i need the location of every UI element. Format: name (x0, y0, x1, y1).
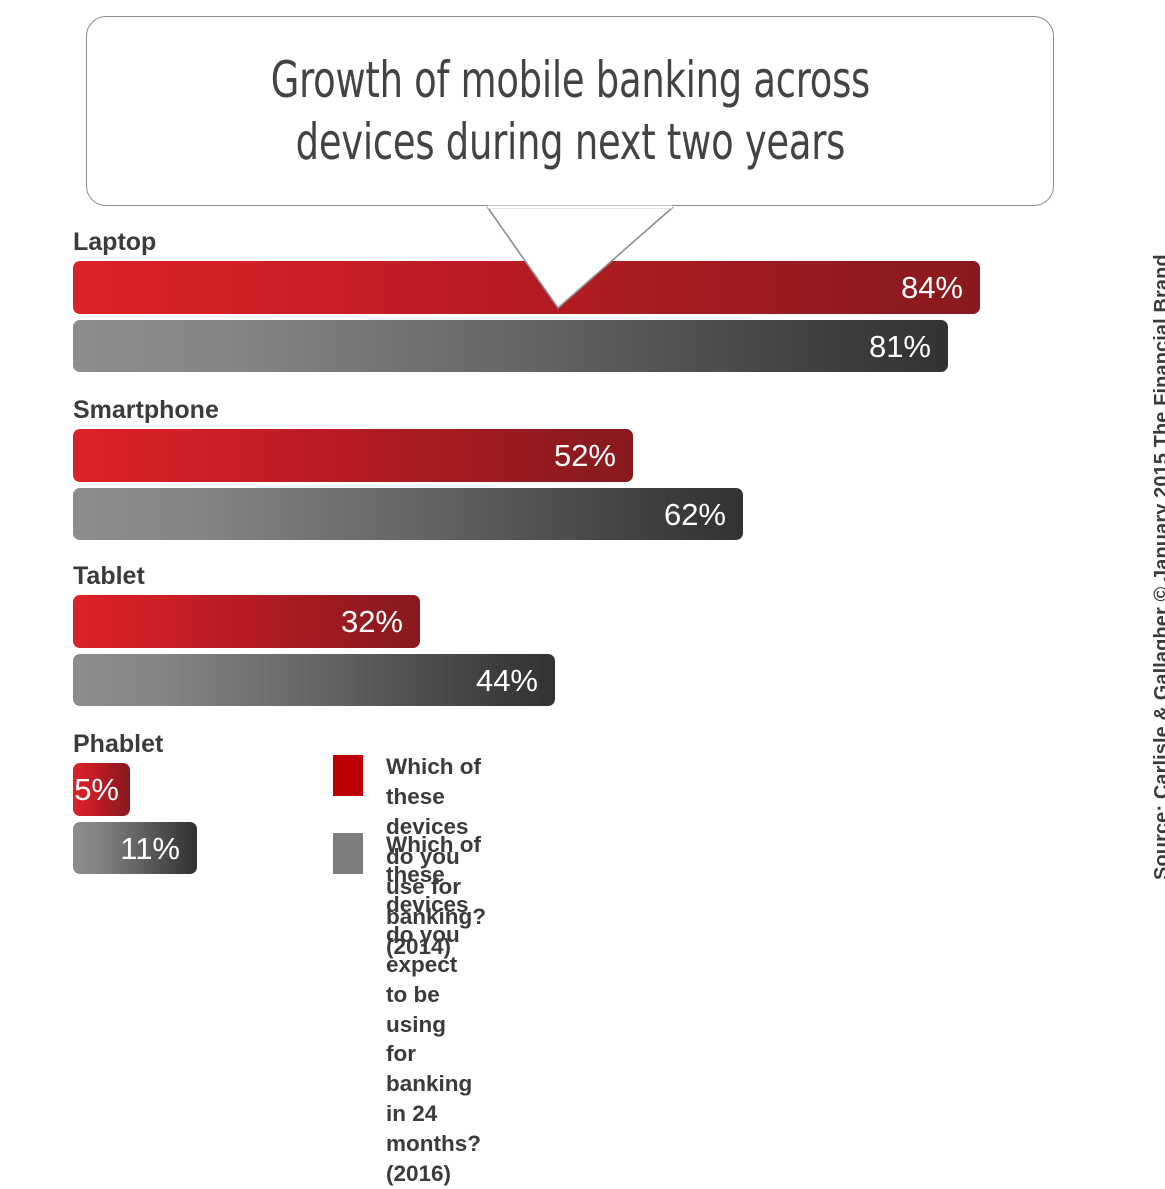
bar-value-laptop-2014: 84% (901, 272, 963, 303)
bar-laptop-2014: 84% (73, 261, 980, 314)
bar-group-phablet: Phablet 5% 11% (73, 730, 313, 875)
bar-value-phablet-2014: 5% (74, 774, 119, 805)
legend-item-2016: Which of these devices do you expect to … (333, 830, 481, 1189)
bar-phablet-2014: 5% (73, 763, 130, 816)
category-label-smartphone: Smartphone (73, 396, 219, 425)
bar-laptop-2016: 81% (73, 320, 948, 372)
bar-value-smartphone-2016: 62% (664, 499, 726, 530)
title-callout-bubble: Growth of mobile banking across devices … (86, 16, 1054, 206)
bar-value-smartphone-2014: 52% (554, 440, 616, 471)
bar-value-phablet-2016: 11% (120, 833, 180, 864)
bar-value-tablet-2016: 44% (476, 665, 538, 696)
bar-group-tablet: Tablet 32% 44% (73, 562, 573, 707)
bar-group-laptop: Laptop 84% 81% (73, 228, 1073, 373)
bar-value-tablet-2014: 32% (341, 606, 403, 637)
bar-tablet-2014: 32% (73, 595, 420, 648)
bar-smartphone-2016: 62% (73, 488, 743, 540)
category-label-laptop: Laptop (73, 228, 156, 257)
category-label-phablet: Phablet (73, 730, 163, 759)
legend-swatch-gray-icon (333, 833, 363, 874)
legend-swatch-red-icon (333, 755, 363, 796)
page-title: Growth of mobile banking across devices … (270, 49, 869, 173)
bar-value-laptop-2016: 81% (869, 331, 931, 362)
source-credit-text: Source: Carlisle & Gallagher © January 2… (1151, 254, 1165, 880)
source-credit: Source: Carlisle & Gallagher © January 2… (1119, 0, 1159, 898)
legend-label-2016: Which of these devices do you expect to … (386, 830, 481, 1189)
bar-group-smartphone: Smartphone 52% 62% (73, 396, 773, 541)
bar-smartphone-2014: 52% (73, 429, 633, 482)
category-label-tablet: Tablet (73, 562, 145, 591)
bar-tablet-2016: 44% (73, 654, 555, 706)
bar-phablet-2016: 11% (73, 822, 197, 874)
